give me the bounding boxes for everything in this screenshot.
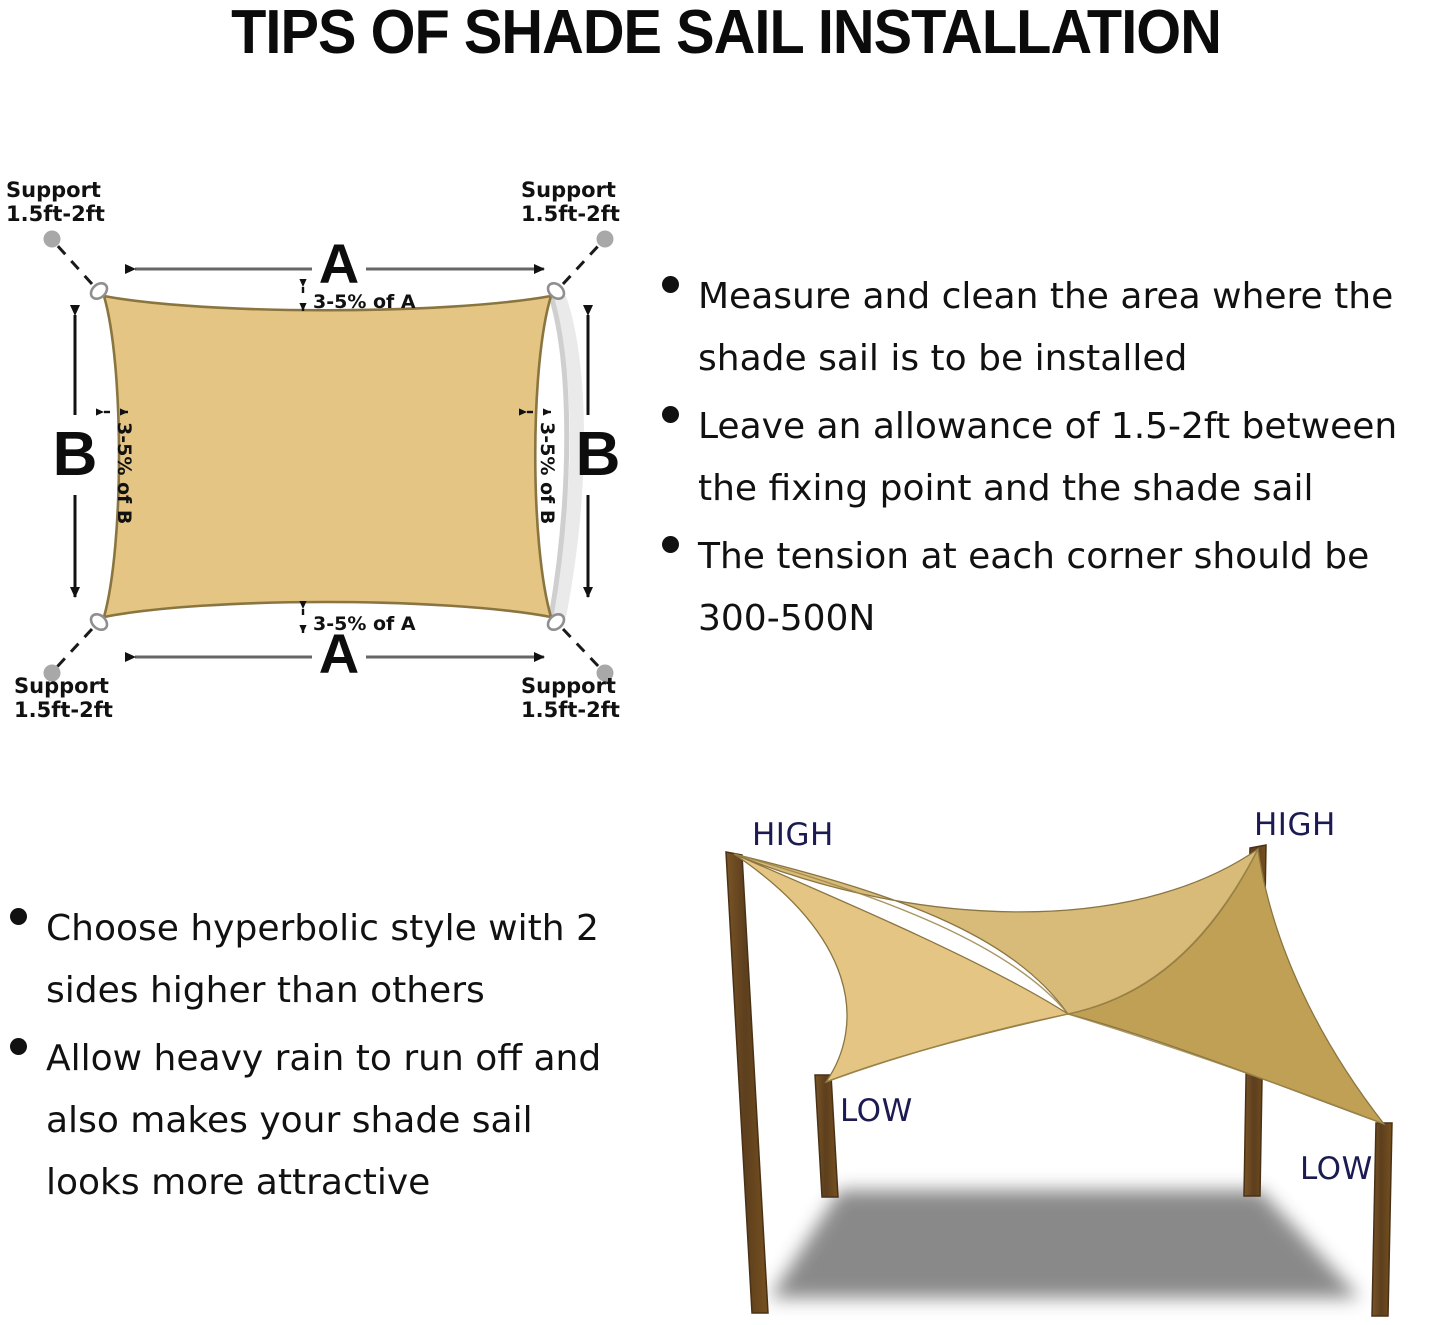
dimension-a-top: A: [135, 232, 544, 295]
support-label-br-line2: 1.5ft-2ft: [521, 698, 620, 722]
dimension-b-right-label: B: [576, 420, 621, 489]
support-label-bl-line1: Support: [14, 674, 109, 698]
list-item: Measure and clean the area where the sha…: [652, 266, 1452, 390]
support-label-bl-line2: 1.5ft-2ft: [14, 698, 113, 722]
dimension-a-top-label: A: [319, 232, 359, 295]
support-label-tr-line2: 1.5ft-2ft: [521, 202, 620, 226]
curve-note-left-label: 3-5% of B: [113, 422, 135, 524]
support-label-tl-line1: Support: [6, 178, 101, 202]
bullet-dot-icon: [662, 536, 679, 553]
installation-tips-list: Measure and clean the area where the sha…: [652, 266, 1452, 656]
tip-text: Choose hyperbolic style with 2 sides hig…: [46, 898, 630, 1022]
tip-text: Leave an allowance of 1.5-2ft between th…: [698, 396, 1452, 520]
list-item: The tension at each corner should be 300…: [652, 526, 1452, 650]
hyperbolic-sail-illustration: HIGH HIGH LOW LOW: [660, 786, 1452, 1325]
list-item: Leave an allowance of 1.5-2ft between th…: [652, 396, 1452, 520]
bullet-dot-icon: [10, 908, 27, 925]
curve-note-top: 3-5% of A: [303, 287, 416, 313]
sail-shape: [104, 296, 551, 617]
curve-note-right-label: 3-5% of B: [536, 422, 558, 524]
support-dot-top-left: [44, 231, 61, 248]
dimension-b-left: B: [53, 315, 98, 597]
support-label-tr-line1: Support: [521, 178, 616, 202]
tip-text: Measure and clean the area where the sha…: [698, 266, 1452, 390]
label-high-left: HIGH: [752, 820, 834, 851]
rectangular-sail-diagram: Support 1.5ft-2ft Support 1.5ft-2ft Supp…: [0, 165, 660, 735]
label-low-right: LOW: [1300, 1154, 1373, 1185]
curve-note-bottom-label: 3-5% of A: [313, 613, 416, 635]
support-label-br-line1: Support: [521, 674, 616, 698]
curve-note-top-label: 3-5% of A: [313, 291, 416, 313]
post-front-right: [1372, 1123, 1392, 1316]
support-label-tl-line2: 1.5ft-2ft: [6, 202, 105, 226]
bullet-dot-icon: [662, 276, 679, 293]
list-item: Allow heavy rain to run off and also mak…: [0, 1028, 630, 1214]
post-front-left: [815, 1075, 838, 1197]
tip-text: The tension at each corner should be 300…: [698, 526, 1452, 650]
page-title: TIPS OF SHADE SAIL INSTALLATION: [51, 0, 1401, 64]
ground-shadow: [770, 1190, 1360, 1298]
dimension-b-right: B: [576, 315, 621, 597]
curve-note-bottom: 3-5% of A: [303, 609, 416, 635]
hyperbolic-style-tips-list: Choose hyperbolic style with 2 sides hig…: [0, 898, 630, 1220]
post-back-left: [726, 852, 768, 1313]
list-item: Choose hyperbolic style with 2 sides hig…: [0, 898, 630, 1022]
support-dot-top-right: [597, 231, 614, 248]
dimension-b-left-label: B: [53, 420, 98, 489]
sail-panel-left: [734, 854, 1068, 1082]
tip-text: Allow heavy rain to run off and also mak…: [46, 1028, 630, 1214]
bullet-dot-icon: [662, 406, 679, 423]
curve-note-left: 3-5% of B: [104, 412, 135, 524]
label-low-left: LOW: [840, 1096, 913, 1127]
bullet-dot-icon: [10, 1038, 27, 1055]
label-high-right: HIGH: [1254, 810, 1336, 841]
